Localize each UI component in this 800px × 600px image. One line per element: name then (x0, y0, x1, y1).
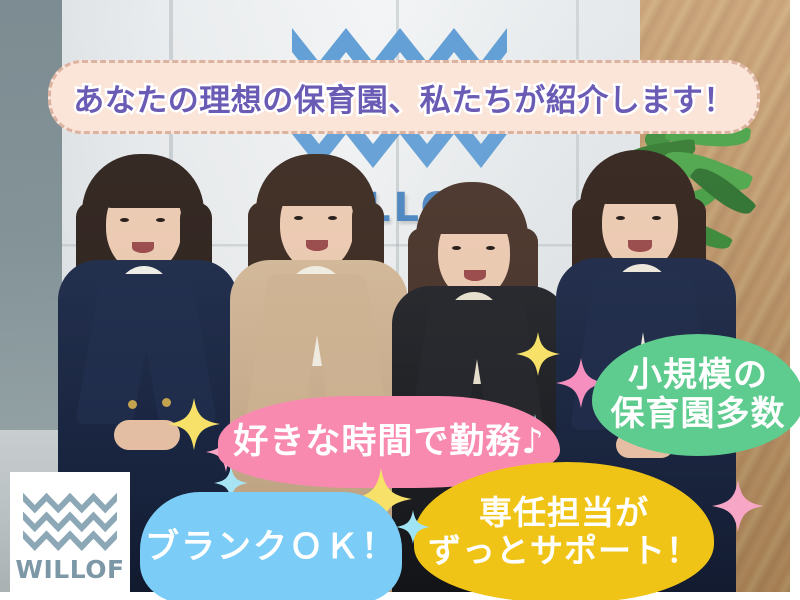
advertisement-banner: WILLOF (0, 0, 800, 600)
headline-banner: あなたの理想の保育園、私たちが紹介します！ (48, 60, 760, 134)
bubble-small-nursery-text: 小規模の 保育園多数 (611, 356, 786, 435)
sparkle-cyan-lower (396, 510, 430, 544)
willof-wordmark: WILLOF (15, 555, 124, 584)
bubble-blank-ok: ブランクＯＫ！ (140, 492, 402, 600)
headline-text: あなたの理想の保育園、私たちが紹介します！ (73, 75, 735, 120)
willof-wave-icon (22, 489, 118, 551)
bubble-flexible-hours-text: 好きな時間で勤務♪ (233, 422, 544, 463)
bubble-dedicated-support-text: 専任担当が ずっとサポート！ (428, 494, 700, 571)
bubble-blank-ok-text: ブランクＯＫ！ (145, 528, 397, 567)
sparkle-pink-right (712, 480, 764, 532)
bubble-small-nursery: 小規模の 保育園多数 (592, 334, 800, 456)
sparkle-yellow-mid (516, 332, 560, 376)
willof-logo: WILLOF (10, 472, 130, 600)
